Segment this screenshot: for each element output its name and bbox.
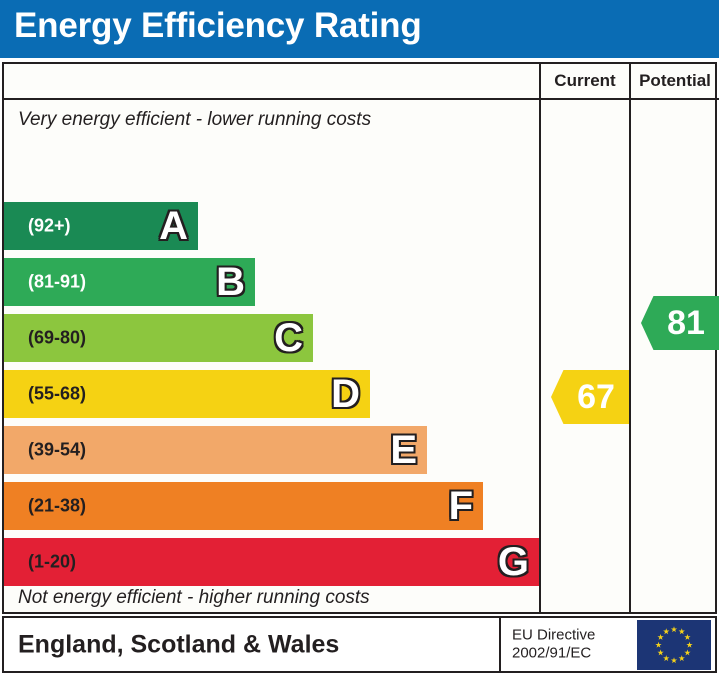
column-divider-potential	[629, 64, 631, 612]
rating-band-d: (55-68)D	[4, 370, 370, 418]
rating-band-range: (92+)	[28, 216, 71, 237]
rating-band-range: (55-68)	[28, 384, 86, 405]
rating-band-letter: G	[498, 542, 529, 582]
rating-band-b: (81-91)B	[4, 258, 255, 306]
rating-band-letter: A	[159, 206, 188, 246]
rating-band-range: (81-91)	[28, 272, 86, 293]
rating-band-range: (39-54)	[28, 440, 86, 461]
rating-band-f: (21-38)F	[4, 482, 483, 530]
rating-band-letter: B	[216, 262, 245, 302]
eu-directive-line1: EU Directive	[512, 626, 595, 645]
potential-rating-value: 81	[655, 306, 705, 340]
rating-band-range: (1-20)	[28, 552, 76, 573]
rating-band-c: (69-80)C	[4, 314, 313, 362]
certificate-footer: England, Scotland & Wales EU Directive 2…	[2, 616, 717, 673]
eu-flag-icon	[637, 620, 711, 670]
rating-band-list: (92+)A(81-91)B(69-80)C(55-68)D(39-54)E(2…	[4, 64, 539, 612]
footer-divider	[499, 618, 501, 671]
rating-band-a: (92+)A	[4, 202, 198, 250]
current-rating-marker: 67	[551, 370, 629, 424]
rating-band-letter: C	[274, 318, 303, 358]
rating-band-g: (1-20)G	[4, 538, 539, 586]
eu-directive-text: EU Directive 2002/91/EC	[512, 626, 595, 664]
rating-band-range: (69-80)	[28, 328, 86, 349]
rating-band-e: (39-54)E	[4, 426, 427, 474]
potential-rating-marker: 81	[641, 296, 719, 350]
rating-band-letter: D	[331, 374, 360, 414]
rating-band-range: (21-38)	[28, 496, 86, 517]
chart-title-bar: Energy Efficiency Rating	[0, 0, 719, 58]
rating-band-letter: F	[449, 486, 473, 526]
rating-band-letter: E	[390, 430, 417, 470]
current-rating-value: 67	[565, 380, 615, 414]
energy-efficiency-certificate: Energy Efficiency Rating Current Potenti…	[0, 0, 719, 675]
eu-directive-line2: 2002/91/EC	[512, 645, 595, 664]
page-title: Energy Efficiency Rating	[14, 6, 422, 46]
footer-region-label: England, Scotland & Wales	[18, 630, 339, 659]
column-header-potential: Potential	[631, 71, 719, 91]
column-divider-current	[539, 64, 541, 612]
rating-chart: Current Potential Very energy efficient …	[2, 62, 717, 614]
column-header-current: Current	[541, 71, 629, 91]
